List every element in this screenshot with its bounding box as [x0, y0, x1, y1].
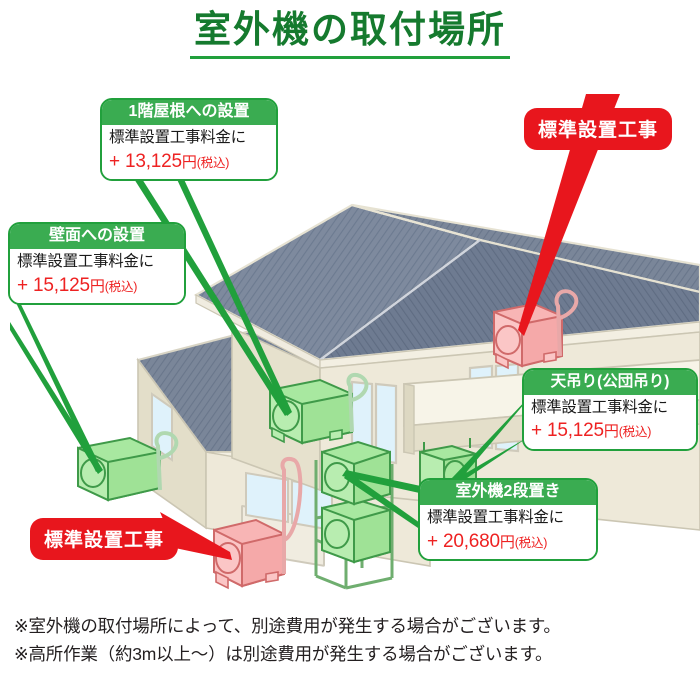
callout-roof-1f-line1: 標準設置工事料金に: [109, 128, 269, 148]
callout-two-tier-tax: (税込): [515, 536, 548, 550]
callout-roof-1f-tax: (税込): [197, 156, 230, 170]
callout-two-tier[interactable]: 室外機2段置き 標準設置工事料金に + 20,680円(税込): [418, 478, 598, 561]
leader-wall: [10, 282, 103, 474]
callout-roof-1f-price: + 13,125円(税込): [109, 149, 269, 175]
callout-wall-body: 標準設置工事料金に + 15,125円(税込): [10, 249, 184, 303]
unit-two-tier-stack: [316, 442, 392, 588]
red-label-standard-balcony[interactable]: 標準設置工事: [524, 108, 672, 150]
unit-two-tier-lower: [322, 500, 390, 562]
callout-wall-amount: + 15,125: [17, 275, 90, 296]
footnotes: ※室外機の取付場所によって、別途費用が発生する場合がございます。 ※高所作業（約…: [14, 612, 694, 669]
callout-ceiling-hung-body: 標準設置工事料金に + 15,125円(税込): [524, 395, 696, 449]
callout-ceiling-hung-yen: 円: [604, 423, 619, 440]
page-title: 室外機の取付場所: [190, 8, 510, 59]
callout-two-tier-line1: 標準設置工事料金に: [427, 508, 589, 528]
diagram-canvas: 室外機の取付場所: [0, 0, 700, 700]
callout-roof-1f-header: 1階屋根への設置: [102, 100, 276, 125]
callout-two-tier-price: + 20,680円(税込): [427, 529, 589, 555]
red-label-standard-ground[interactable]: 標準設置工事: [30, 518, 178, 560]
callout-two-tier-amount: + 20,680: [427, 531, 500, 552]
page-title-wrapper: 室外機の取付場所: [0, 8, 700, 59]
callout-two-tier-header: 室外機2段置き: [420, 480, 596, 505]
callout-wall-price: + 15,125円(税込): [17, 273, 177, 299]
footnote-1: ※室外機の取付場所によって、別途費用が発生する場合がございます。: [14, 612, 694, 640]
callout-ceiling-hung-price: + 15,125円(税込): [531, 418, 689, 444]
callout-wall[interactable]: 壁面への設置 標準設置工事料金に + 15,125円(税込): [8, 222, 186, 305]
callout-ceiling-hung-header: 天吊り(公団吊り): [524, 370, 696, 395]
footnote-2: ※高所作業（約3m以上～）は別途費用が発生する場合がございます。: [14, 640, 694, 668]
callout-wall-line1: 標準設置工事料金に: [17, 252, 177, 272]
callout-ceiling-hung-tax: (税込): [619, 425, 652, 439]
callout-ceiling-hung[interactable]: 天吊り(公団吊り) 標準設置工事料金に + 15,125円(税込): [522, 368, 698, 451]
callout-roof-1f-amount: + 13,125: [109, 151, 182, 172]
callout-two-tier-yen: 円: [500, 534, 515, 551]
callout-ceiling-hung-amount: + 15,125: [531, 420, 604, 441]
callout-roof-1f[interactable]: 1階屋根への設置 標準設置工事料金に + 13,125円(税込): [100, 98, 278, 181]
callout-wall-yen: 円: [90, 278, 105, 295]
callout-wall-tax: (税込): [105, 280, 138, 294]
callout-roof-1f-yen: 円: [182, 154, 197, 171]
callout-roof-1f-body: 標準設置工事料金に + 13,125円(税込): [102, 125, 276, 179]
callout-wall-header: 壁面への設置: [10, 224, 184, 249]
callout-ceiling-hung-line1: 標準設置工事料金に: [531, 398, 689, 418]
callout-two-tier-body: 標準設置工事料金に + 20,680円(税込): [420, 505, 596, 559]
